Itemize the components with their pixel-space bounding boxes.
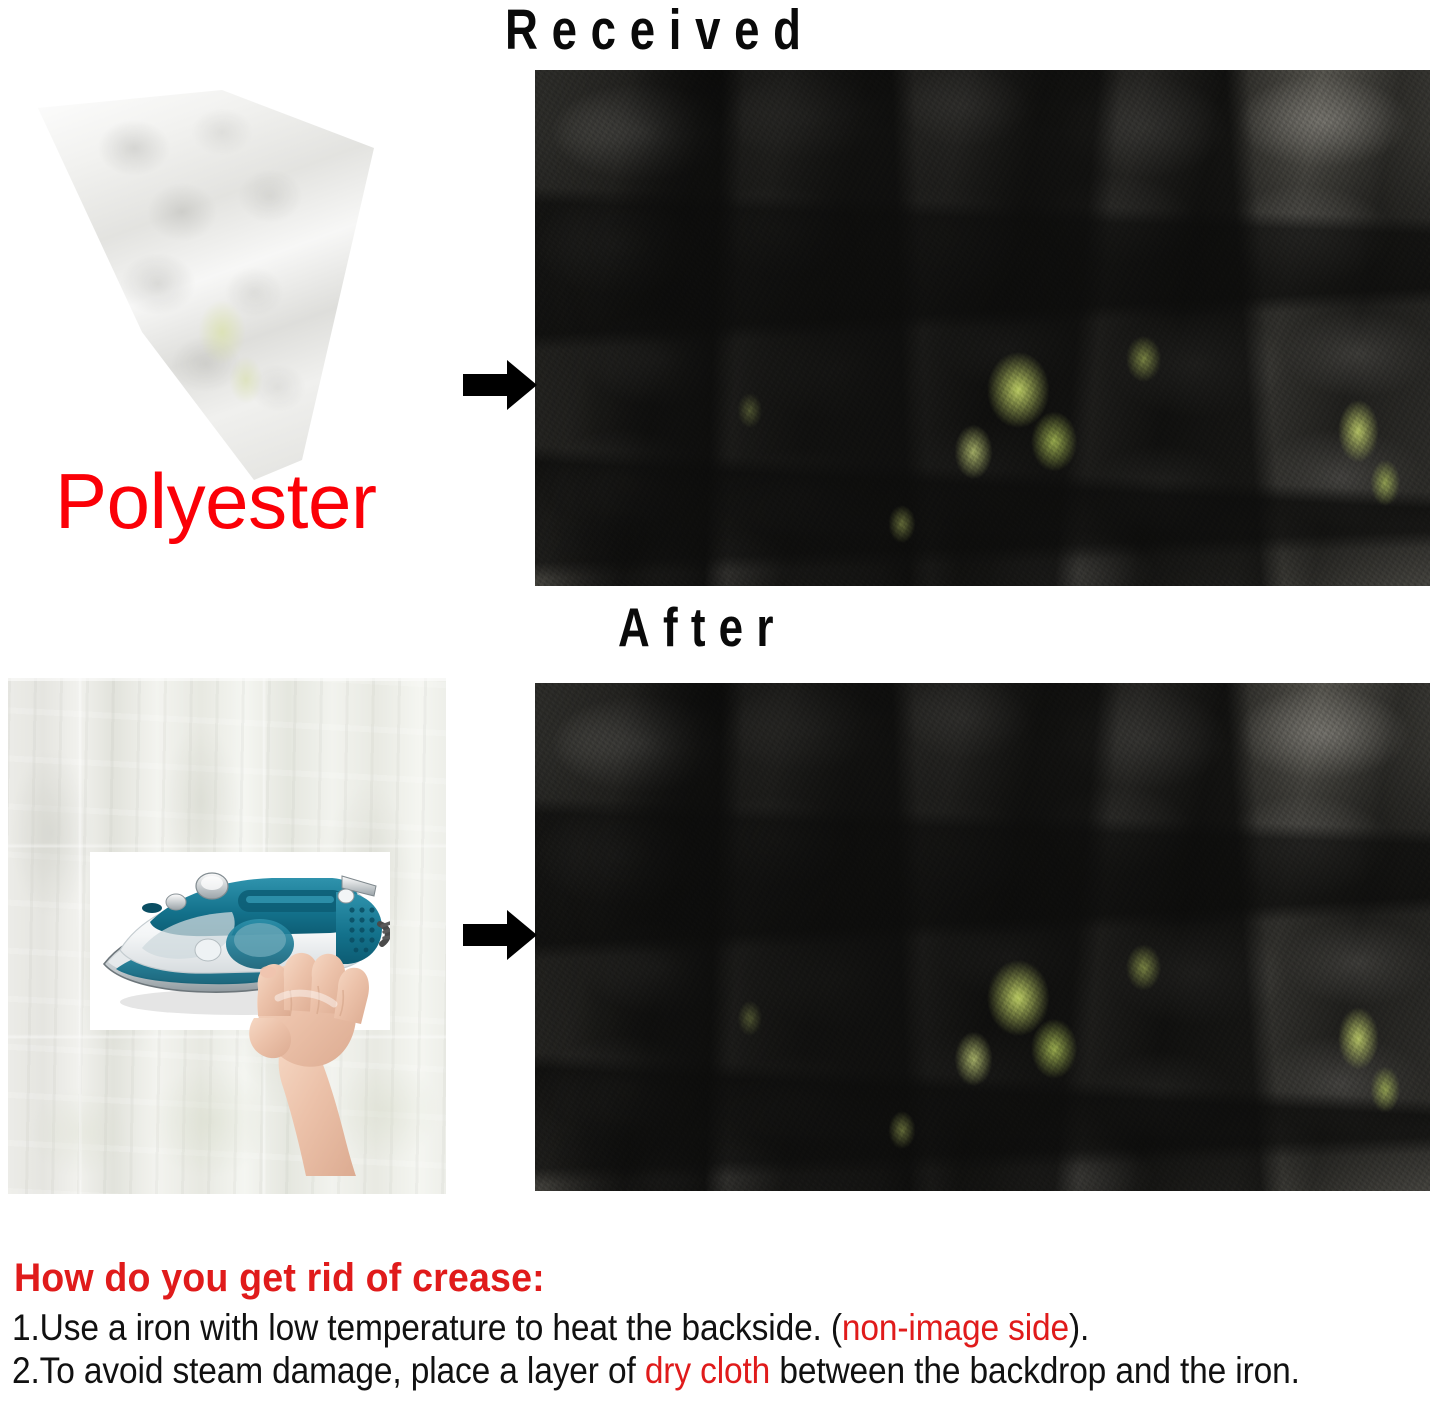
- right-arrow-icon-after: [463, 910, 537, 960]
- received-backdrop-photo: [535, 70, 1430, 586]
- care-instruction-line-2: 2.To avoid steam damage, place a layer o…: [12, 1350, 1295, 1391]
- after-backdrop-photo: [535, 683, 1430, 1191]
- section-title-received: Received: [505, 2, 815, 59]
- section-title-after: After: [618, 600, 787, 655]
- infographic-canvas: Received Polyester After: [0, 0, 1436, 1401]
- care-line-1-highlight: non-image side: [842, 1307, 1069, 1348]
- steam-iron-icon: [90, 852, 390, 1030]
- care-line-2-highlight: dry cloth: [645, 1350, 770, 1391]
- care-instructions-block: How do you get rid of crease: 1.Use a ir…: [10, 1258, 1430, 1393]
- care-line-1-part-1: 1.Use a iron with low temperature to hea…: [12, 1307, 842, 1348]
- arrow-shaft: [463, 924, 509, 946]
- polyester-fabric-swatch: [22, 84, 422, 484]
- care-line-1-part-3: ).: [1069, 1307, 1089, 1348]
- care-instructions-heading: How do you get rid of crease:: [14, 1258, 1345, 1300]
- arrow-shaft: [463, 374, 509, 396]
- care-line-2-part-3: between the backdrop and the iron.: [770, 1350, 1300, 1391]
- care-instruction-line-1: 1.Use a iron with low temperature to hea…: [12, 1307, 1295, 1348]
- arrow-head: [507, 360, 537, 410]
- right-arrow-icon-received: [463, 360, 537, 410]
- arrow-head: [507, 910, 537, 960]
- rock-vignette-layer: [535, 683, 1430, 1191]
- polyester-material-label: Polyester: [55, 462, 377, 540]
- iron-product-photo: [90, 852, 390, 1030]
- care-line-2-part-1: 2.To avoid steam damage, place a layer o…: [12, 1350, 645, 1391]
- rock-vignette-layer: [535, 70, 1430, 586]
- fabric-fold-highlights: [22, 84, 422, 484]
